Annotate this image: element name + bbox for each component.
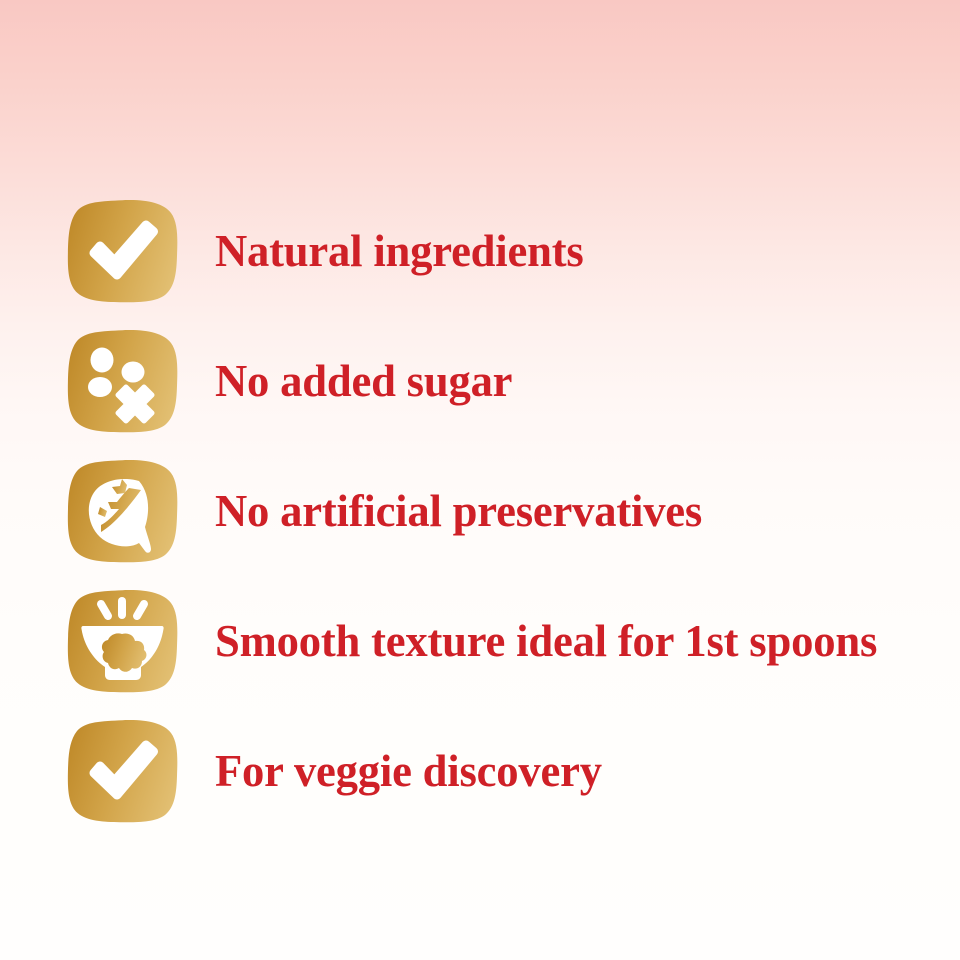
benefit-label: No artificial preservatives xyxy=(215,488,702,534)
benefits-poster: Natural ingredients xyxy=(0,0,960,960)
benefit-label: Smooth texture ideal for 1st spoons xyxy=(215,618,877,664)
benefit-item: Natural ingredients xyxy=(0,186,960,316)
benefit-item: Smooth texture ideal for 1st spoons xyxy=(0,576,960,706)
leaf-icon xyxy=(67,459,178,563)
benefit-item: No added sugar xyxy=(0,316,960,446)
no-sugar-icon xyxy=(67,329,178,433)
benefit-list: Natural ingredients xyxy=(0,186,960,836)
check-mark-icon xyxy=(67,199,178,303)
benefit-label: Natural ingredients xyxy=(215,228,584,274)
benefit-label: No added sugar xyxy=(215,358,512,404)
benefit-item: No artificial preservatives xyxy=(0,446,960,576)
check-mark-icon xyxy=(67,719,178,823)
steaming-bowl-icon xyxy=(67,589,178,693)
benefit-label: For veggie discovery xyxy=(215,748,602,794)
benefit-item: For veggie discovery xyxy=(0,706,960,836)
